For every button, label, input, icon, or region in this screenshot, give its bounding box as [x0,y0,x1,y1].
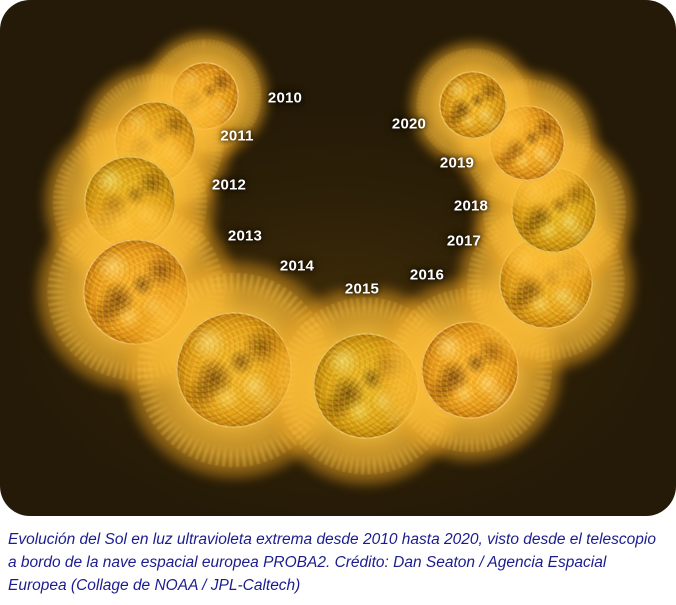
year-label-2011: 2011 [220,128,253,145]
photosphere-disk [439,71,507,139]
year-label-2020: 2020 [392,116,426,133]
year-label-2017: 2017 [447,233,481,250]
year-label-2019: 2019 [440,155,474,172]
year-label-2013: 2013 [228,228,262,245]
sun-evolution-collage: 2010201120122013201420152016201720182019… [0,0,676,516]
sun-disk-2020 [439,71,507,139]
year-label-2014: 2014 [280,258,314,275]
year-label-2015: 2015 [345,281,379,298]
figure-caption: Evolución del Sol en luz ultravioleta ex… [8,528,668,597]
year-label-2010: 2010 [268,90,302,107]
year-label-2012: 2012 [212,177,246,194]
year-label-2018: 2018 [454,198,488,215]
year-label-2016: 2016 [410,267,444,284]
figure-page: 2010201120122013201420152016201720182019… [0,0,676,605]
